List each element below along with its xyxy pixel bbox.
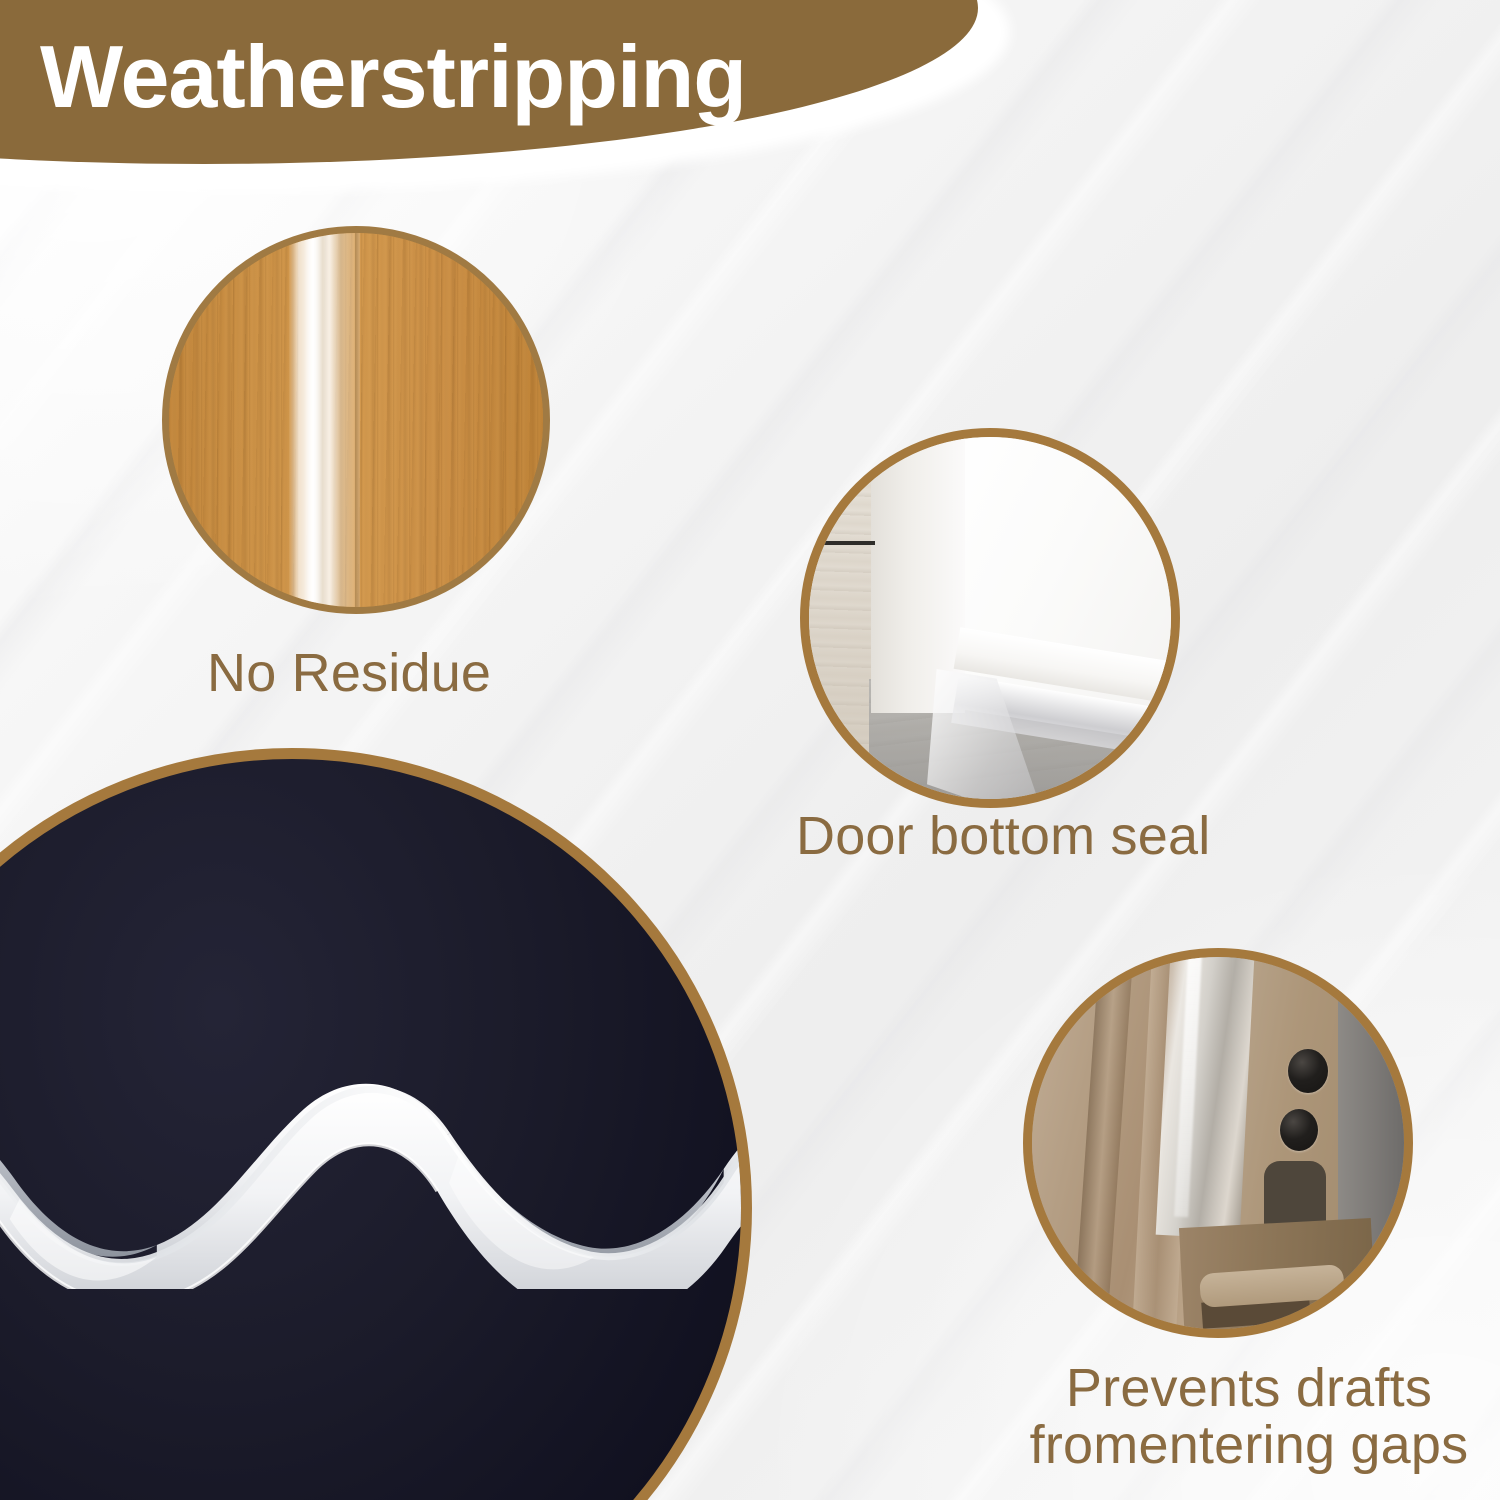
caption-prevents-drafts: Prevents draftsfromentering gaps xyxy=(1019,1360,1479,1474)
seal-strip-highlight xyxy=(305,226,321,614)
caption-no-residue: No Residue xyxy=(207,645,491,702)
infographic-canvas: Weatherstripping No Residue Door bottom … xyxy=(0,0,1500,1500)
door-side-panel xyxy=(871,428,965,713)
feature-image-prevents-drafts xyxy=(1023,948,1413,1338)
seal-strip-edge xyxy=(355,226,360,614)
clear-seal-strip xyxy=(289,226,359,614)
wood-floor-left xyxy=(809,437,875,799)
feature-image-no-residue xyxy=(162,226,550,614)
twisted-strip-graphic xyxy=(0,1059,752,1289)
caption-drafts-line2: fromentering gaps xyxy=(1030,1415,1469,1475)
twisted-strip-container xyxy=(0,1059,752,1289)
floor-seam-line xyxy=(819,541,875,545)
feature-image-door-bottom-seal xyxy=(800,428,1180,808)
screw-hole-1 xyxy=(1288,1049,1328,1093)
page-title: Weatherstripping xyxy=(40,22,940,132)
caption-drafts-line1: Prevents drafts xyxy=(1066,1358,1432,1418)
installed-seal-strip xyxy=(1156,948,1257,1239)
caption-door-bottom-seal: Door bottom seal xyxy=(796,808,1210,865)
screw-hole-2 xyxy=(1280,1109,1318,1151)
